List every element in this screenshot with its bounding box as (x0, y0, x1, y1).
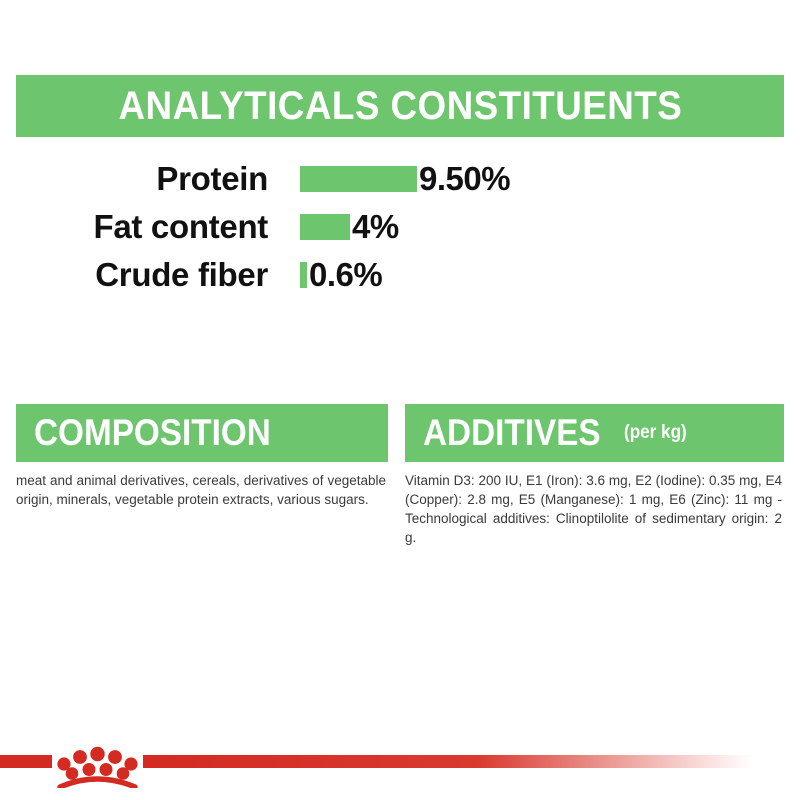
constituent-bar-zone: 9.50% (300, 160, 510, 198)
royal-canin-crown-icon (52, 728, 144, 788)
additives-panel: ADDITIVES (per kg) Vitamin D3: 200 IU, E… (405, 404, 784, 547)
additives-panel-subtitle: (per kg) (624, 422, 687, 444)
composition-panel-body: meat and animal derivatives, cereals, de… (16, 471, 388, 509)
constituent-bar-zone: 0.6% (300, 256, 382, 294)
constituent-value-fat-content: 4% (352, 208, 399, 246)
constituent-row: Crude fiber 0.6% (0, 251, 800, 299)
constituent-bar-protein (300, 166, 417, 192)
composition-panel: COMPOSITION meat and animal derivatives,… (16, 404, 388, 547)
constituent-label-crude-fiber: Crude fiber (0, 256, 268, 294)
info-panels: COMPOSITION meat and animal derivatives,… (0, 404, 800, 547)
composition-panel-title: COMPOSITION (34, 412, 271, 454)
analytical-constituents-header: ANALYTICALS CONSTITUENTS (16, 75, 784, 137)
constituent-label-fat-content: Fat content (0, 208, 268, 246)
constituent-value-crude-fiber: 0.6% (309, 256, 382, 294)
brand-footer (0, 744, 800, 800)
brand-bar-left (0, 755, 52, 768)
constituent-bar-zone: 4% (300, 208, 399, 246)
constituents-chart: Protein 9.50% Fat content 4% Crude fiber… (0, 155, 800, 299)
constituent-value-protein: 9.50% (419, 160, 510, 198)
additives-panel-header: ADDITIVES (per kg) (405, 404, 784, 462)
constituent-label-protein: Protein (0, 160, 268, 198)
additives-panel-body: Vitamin D3: 200 IU, E1 (Iron): 3.6 mg, E… (405, 471, 784, 547)
additives-panel-title: ADDITIVES (423, 412, 601, 454)
constituent-bar-fat-content (300, 214, 350, 240)
constituent-bar-crude-fiber (300, 262, 307, 288)
brand-bar-right (143, 755, 753, 768)
constituent-row: Fat content 4% (0, 203, 800, 251)
composition-panel-header: COMPOSITION (16, 404, 388, 462)
page-title: ANALYTICALS CONSTITUENTS (118, 84, 682, 129)
constituent-row: Protein 9.50% (0, 155, 800, 203)
